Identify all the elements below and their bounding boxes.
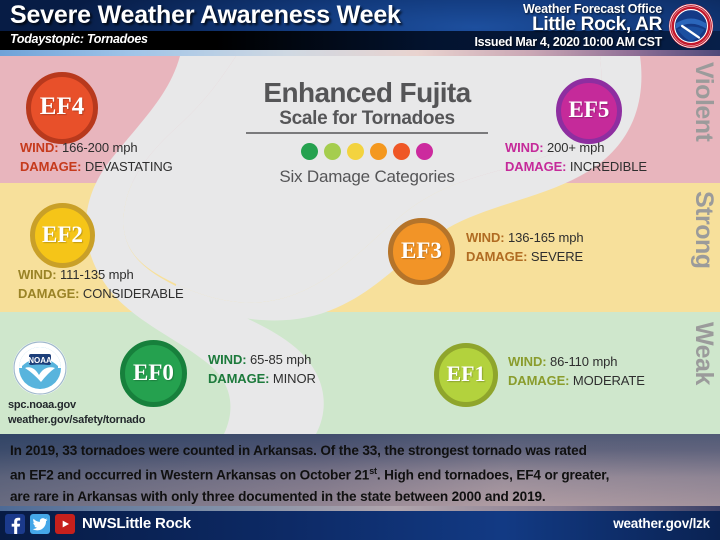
summary-line-3: are rare in Arkansas with only three doc… <box>10 486 716 507</box>
footer-url[interactable]: weather.gov/lzk <box>613 516 710 531</box>
ef1-damage-line: DAMAGE: MODERATE <box>508 371 645 390</box>
ef0-badge: EF0 <box>120 340 187 407</box>
dot-ef3 <box>370 143 387 160</box>
band-label-violent: Violent <box>689 62 718 180</box>
ef5-damage-value: INCREDIBLE <box>570 159 647 174</box>
ef0-damage-line: DAMAGE: MINOR <box>208 369 316 388</box>
ef3-stats: WIND: 136-165 mph DAMAGE: SEVERE <box>466 228 584 266</box>
ef3-wind-key: WIND: <box>466 230 505 245</box>
ef2-badge: EF2 <box>30 203 95 268</box>
tornado-safety-link[interactable]: weather.gov/safety/tornado <box>8 413 145 428</box>
summary-line-2a: an EF2 and occurred in Western Arkansas … <box>10 468 369 483</box>
social-handle: NWSLittle Rock <box>82 515 191 532</box>
ef5-damage-key: DAMAGE: <box>505 159 566 174</box>
ef0-label: EF0 <box>133 360 174 386</box>
ef1-wind-key: WIND: <box>508 354 547 369</box>
summary-line-2: an EF2 and occurred in Western Arkansas … <box>10 461 716 486</box>
ef2-damage-value: CONSIDERABLE <box>83 286 184 301</box>
ef1-label: EF1 <box>446 361 485 387</box>
ef1-wind-line: WIND: 86-110 mph <box>508 352 645 371</box>
dot-ef0 <box>301 143 318 160</box>
office-city: Little Rock, AR <box>474 15 662 35</box>
ef4-wind-value: 166-200 mph <box>62 140 138 155</box>
ef3-damage-key: DAMAGE: <box>466 249 527 264</box>
ef5-wind-line: WIND: 200+ mph <box>505 138 647 157</box>
center-title-block: Enhanced Fujita Scale for Tornadoes Six … <box>232 78 502 187</box>
ef3-badge: EF3 <box>388 218 455 285</box>
footer-accent-strip <box>0 506 720 511</box>
scale-subtitle: Scale for Tornadoes <box>246 108 488 134</box>
page-title: Severe Weather Awareness Week <box>10 1 401 30</box>
noaa-links: spc.noaa.gov weather.gov/safety/tornado <box>8 398 145 428</box>
ef5-label: EF5 <box>569 97 610 123</box>
ef3-damage-line: DAMAGE: SEVERE <box>466 247 584 266</box>
infographic-canvas: Severe Weather Awareness Week Todaystopi… <box>0 0 720 540</box>
header-subtitle: Todaystopic: Tornadoes <box>10 32 148 46</box>
ef3-wind-line: WIND: 136-165 mph <box>466 228 584 247</box>
ef4-stats: WIND: 166-200 mph DAMAGE: DEVASTATING <box>20 138 173 176</box>
scale-title: Enhanced Fujita <box>232 78 502 108</box>
svg-text:NOAA: NOAA <box>28 356 52 365</box>
ef3-damage-value: SEVERE <box>531 249 583 264</box>
nws-seal-icon <box>664 2 718 50</box>
ef2-damage-line: DAMAGE: CONSIDERABLE <box>18 284 184 303</box>
ef2-wind-key: WIND: <box>18 267 57 282</box>
ef4-badge: EF4 <box>26 72 98 144</box>
ef5-badge: EF5 <box>556 78 622 144</box>
ef0-wind-line: WIND: 65-85 mph <box>208 350 316 369</box>
ef4-damage-line: DAMAGE: DEVASTATING <box>20 157 173 176</box>
ef1-stats: WIND: 86-110 mph DAMAGE: MODERATE <box>508 352 645 390</box>
ef0-damage-value: MINOR <box>273 371 316 386</box>
ef0-damage-key: DAMAGE: <box>208 371 269 386</box>
ef2-label: EF2 <box>42 222 83 248</box>
noaa-seal-icon: NOAA <box>12 340 68 396</box>
youtube-icon[interactable] <box>55 514 75 534</box>
ef2-wind-line: WIND: 111-135 mph <box>18 265 184 284</box>
spc-link[interactable]: spc.noaa.gov <box>8 398 145 413</box>
ef2-damage-key: DAMAGE: <box>18 286 79 301</box>
ef1-badge: EF1 <box>434 343 498 407</box>
summary-line-2b: . High end tornadoes, EF4 or greater, <box>377 468 609 483</box>
issued-timestamp: Issued Mar 4, 2020 10:00 AM CST <box>474 35 662 49</box>
damage-category-dots <box>232 143 502 160</box>
ef4-damage-value: DEVASTATING <box>85 159 173 174</box>
ef1-damage-value: MODERATE <box>573 373 645 388</box>
band-label-strong: Strong <box>689 191 718 309</box>
dot-ef1 <box>324 143 341 160</box>
ef0-wind-value: 65-85 mph <box>250 352 311 367</box>
ef2-wind-value: 111-135 mph <box>60 267 134 282</box>
summary-ordinal-suffix: st <box>369 466 377 476</box>
ef4-wind-line: WIND: 166-200 mph <box>20 138 173 157</box>
twitter-icon[interactable] <box>30 514 50 534</box>
summary-paragraph: In 2019, 33 tornadoes were counted in Ar… <box>10 440 716 507</box>
ef3-label: EF3 <box>401 238 442 264</box>
band-label-weak: Weak <box>689 322 718 432</box>
dot-ef2 <box>347 143 364 160</box>
ef0-stats: WIND: 65-85 mph DAMAGE: MINOR <box>208 350 316 388</box>
ef4-damage-key: DAMAGE: <box>20 159 81 174</box>
facebook-icon[interactable] <box>5 514 25 534</box>
ef5-stats: WIND: 200+ mph DAMAGE: INCREDIBLE <box>505 138 647 176</box>
ef5-damage-line: DAMAGE: INCREDIBLE <box>505 157 647 176</box>
ef1-damage-key: DAMAGE: <box>508 373 569 388</box>
ef1-wind-value: 86-110 mph <box>550 354 617 369</box>
ef4-label: EF4 <box>40 93 84 121</box>
ef0-wind-key: WIND: <box>208 352 247 367</box>
summary-line-1: In 2019, 33 tornadoes were counted in Ar… <box>10 440 716 461</box>
ef5-wind-value: 200+ mph <box>547 140 604 155</box>
ef4-wind-key: WIND: <box>20 140 59 155</box>
ef5-wind-key: WIND: <box>505 140 544 155</box>
ef3-wind-value: 136-165 mph <box>508 230 584 245</box>
categories-caption: Six Damage Categories <box>232 167 502 187</box>
header-office-block: Weather Forecast Office Little Rock, AR … <box>474 2 662 49</box>
dot-ef4 <box>393 143 410 160</box>
header-bar: Severe Weather Awareness Week Todaystopi… <box>0 0 720 50</box>
ef2-stats: WIND: 111-135 mph DAMAGE: CONSIDERABLE <box>18 265 184 303</box>
dot-ef5 <box>416 143 433 160</box>
